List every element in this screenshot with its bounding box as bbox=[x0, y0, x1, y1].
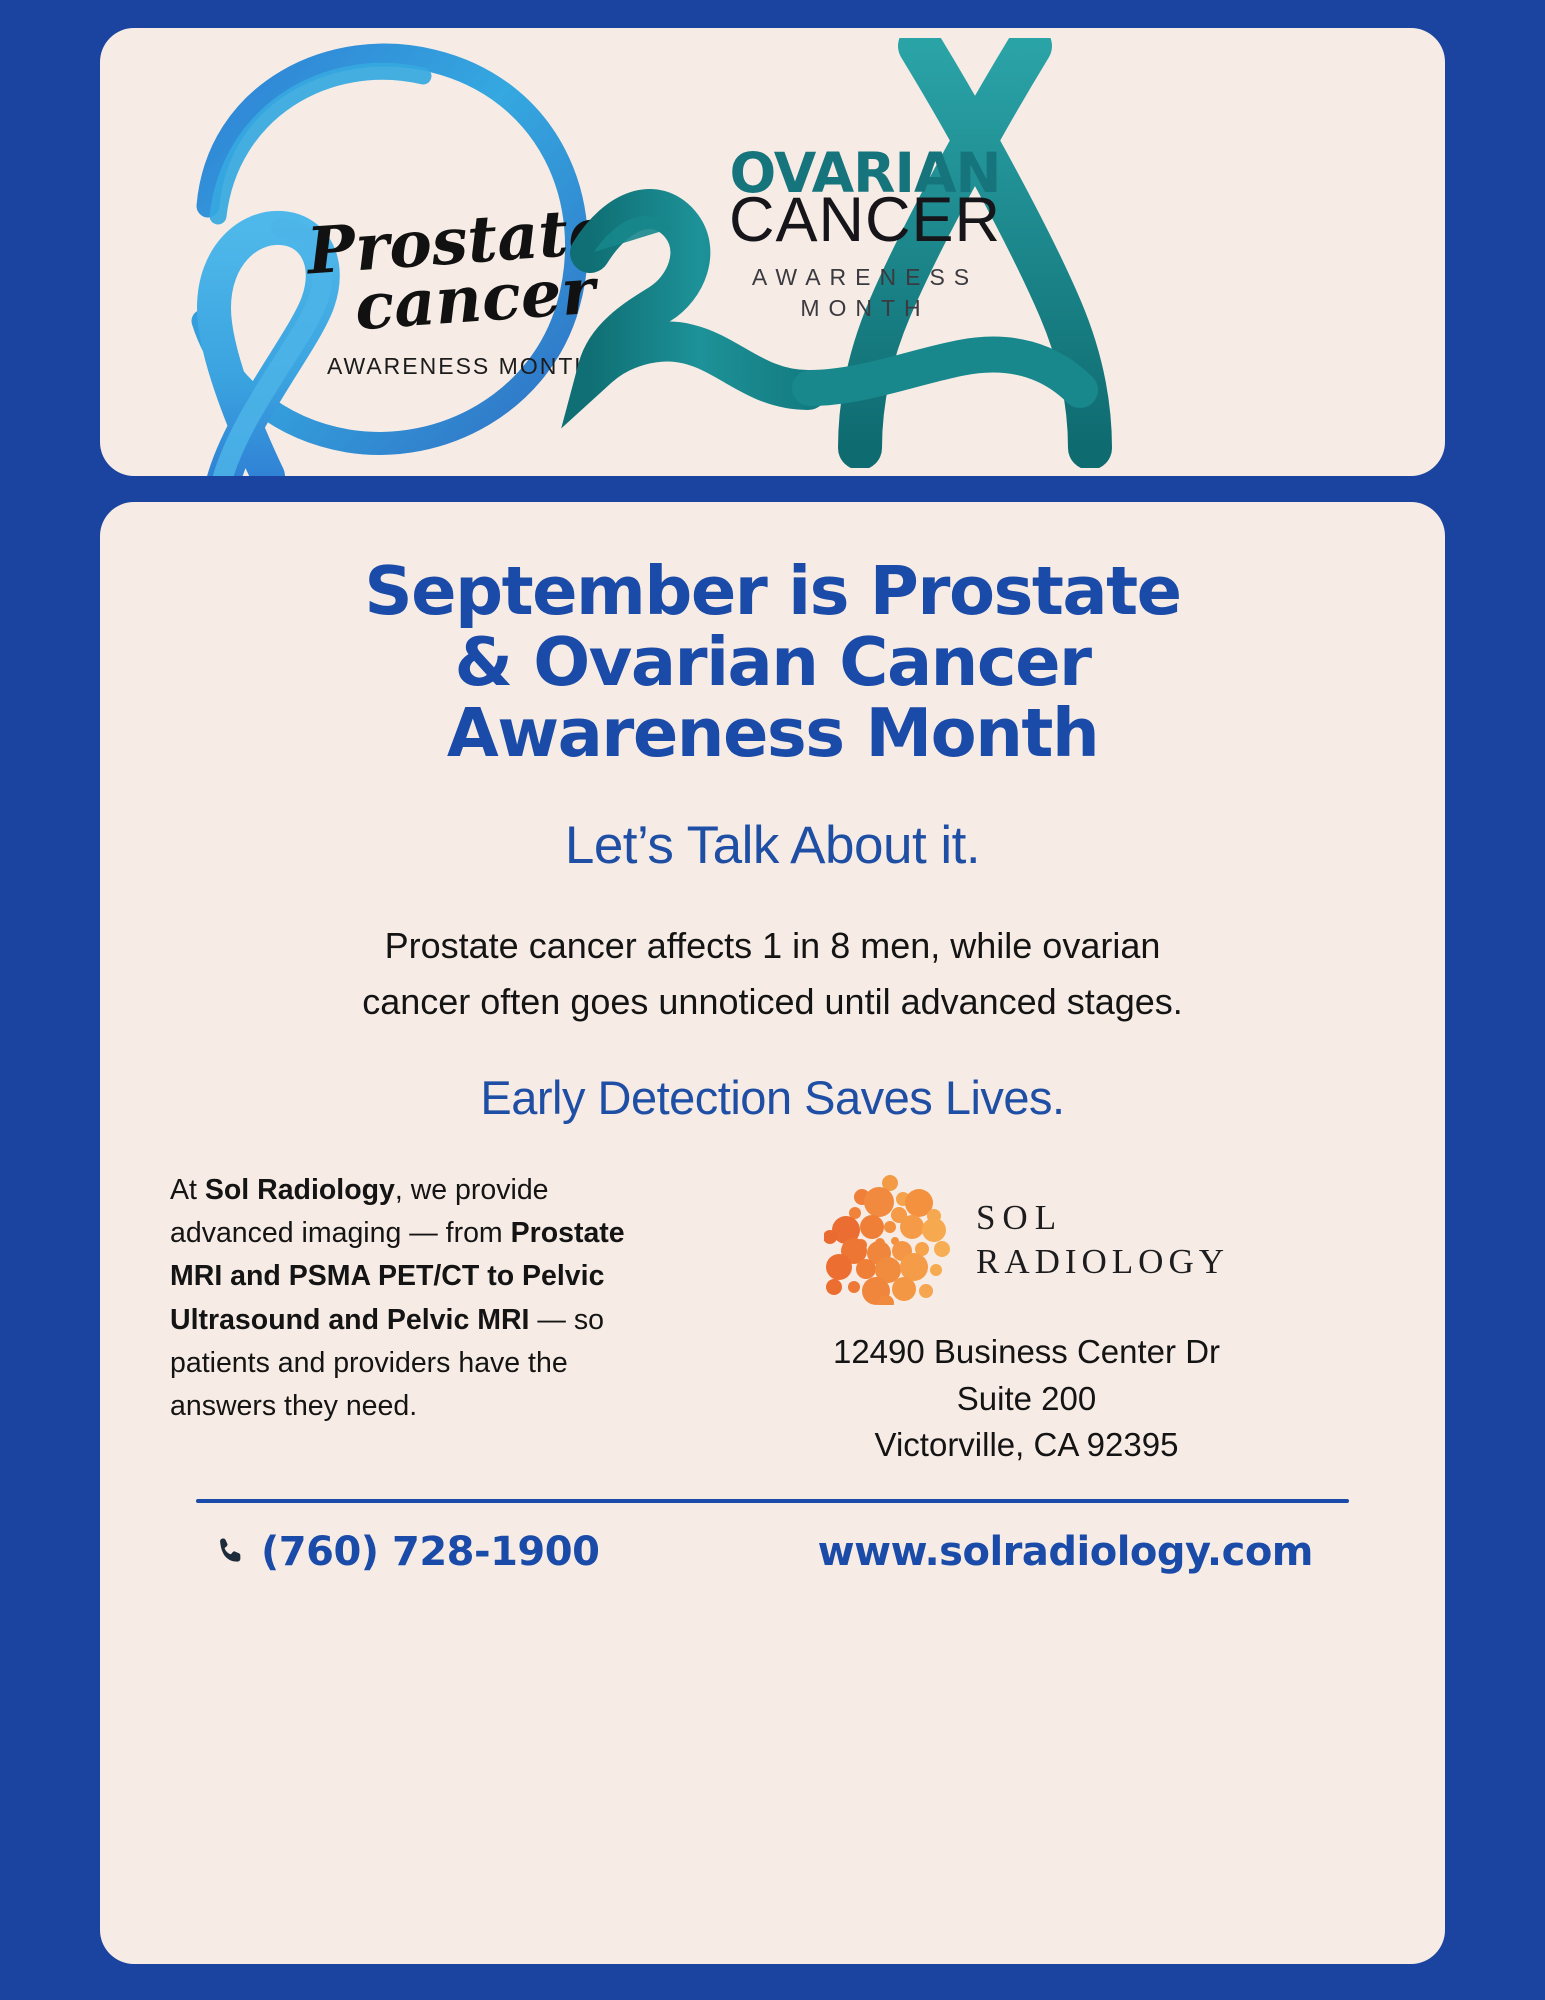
clinic-info-column: SOL RADIOLOGY 12490 Business Center Dr S… bbox=[670, 1169, 1383, 1470]
ovarian-word-month: MONTH bbox=[700, 297, 1030, 320]
tagline: Early Detection Saves Lives. bbox=[162, 1070, 1383, 1125]
statistic-paragraph: Prostate cancer affects 1 in 8 men, whil… bbox=[162, 918, 1383, 1030]
contact-footer: (760) 728-1900 www.solradiology.com bbox=[162, 1529, 1383, 1575]
brand-name-radiology: RADIOLOGY bbox=[976, 1240, 1229, 1284]
headline-line-3: Awareness Month bbox=[447, 694, 1098, 772]
ovarian-word-awareness: AWARENESS bbox=[700, 266, 1030, 289]
subheading: Let’s Talk About it. bbox=[162, 815, 1383, 876]
brand-wordmark: SOL RADIOLOGY bbox=[976, 1196, 1229, 1284]
ovarian-logo-wordmark: OVARIAN CANCER AWARENESS MONTH bbox=[700, 146, 1030, 320]
footer-divider bbox=[196, 1499, 1349, 1503]
clinic-address: 12490 Business Center Dr Suite 200 Victo… bbox=[670, 1329, 1383, 1470]
phone-icon bbox=[214, 1535, 248, 1569]
address-line-2: Suite 200 bbox=[957, 1380, 1096, 1417]
website-link[interactable]: www.solradiology.com bbox=[818, 1529, 1313, 1575]
headline-line-2: & Ovarian Cancer bbox=[454, 623, 1090, 701]
services-intro: At bbox=[170, 1174, 205, 1206]
services-paragraph: At Sol Radiology, we provide advanced im… bbox=[162, 1169, 640, 1429]
main-content-card: September is Prostate & Ovarian Cancer A… bbox=[100, 502, 1445, 1964]
phone-contact[interactable]: (760) 728-1900 bbox=[214, 1529, 599, 1575]
headline-line-1: September is Prostate bbox=[364, 552, 1180, 630]
phone-number: (760) 728-1900 bbox=[261, 1529, 599, 1575]
statistic-line-1: Prostate cancer affects 1 in 8 men, whil… bbox=[385, 925, 1161, 966]
address-line-1: 12490 Business Center Dr bbox=[833, 1333, 1220, 1370]
awareness-ribbons-card: Prostate cancer AWARENESS MONTH bbox=[100, 28, 1445, 476]
services-brand-name: Sol Radiology bbox=[205, 1174, 395, 1206]
brand-name-sol: SOL bbox=[976, 1196, 1229, 1240]
statistic-line-2: cancer often goes unnoticed until advanc… bbox=[362, 981, 1183, 1022]
poster-root: Prostate cancer AWARENESS MONTH bbox=[0, 0, 1545, 2000]
two-column-section: At Sol Radiology, we provide advanced im… bbox=[162, 1169, 1383, 1470]
orange-dot-cluster-icon bbox=[824, 1175, 954, 1305]
ovarian-word-cancer: CANCER bbox=[700, 189, 1030, 252]
page-title: September is Prostate & Ovarian Cancer A… bbox=[162, 556, 1383, 769]
brand-lockup: SOL RADIOLOGY bbox=[670, 1175, 1383, 1305]
address-line-3: Victorville, CA 92395 bbox=[875, 1426, 1179, 1463]
